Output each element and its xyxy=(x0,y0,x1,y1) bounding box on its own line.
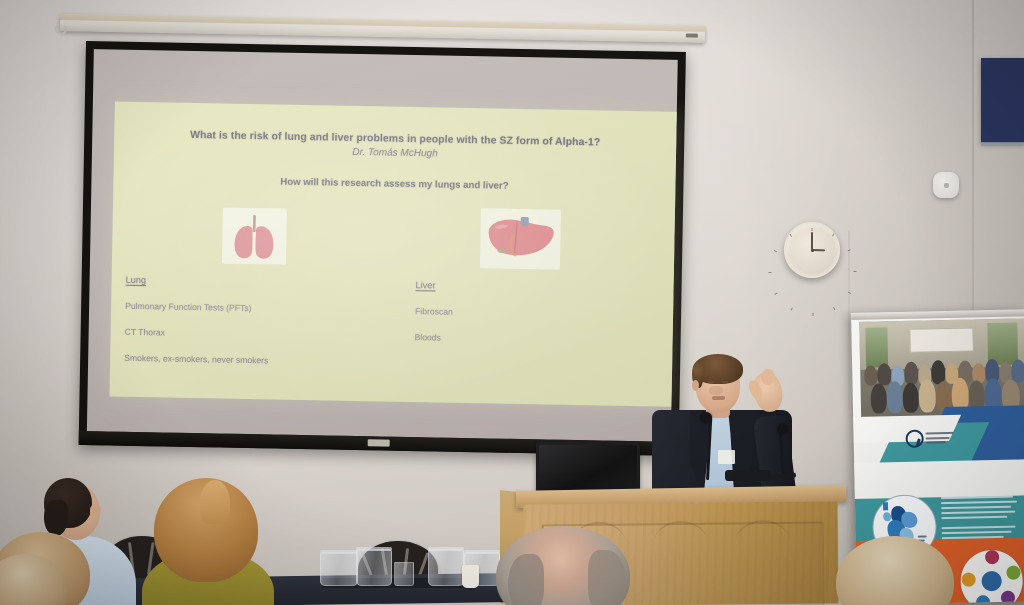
presenter-name-badge xyxy=(718,450,735,464)
water-jug xyxy=(356,549,392,586)
clock-face xyxy=(790,228,834,272)
audience-hair xyxy=(0,554,68,605)
projector-screen-frame: What is the risk of lung and liver probl… xyxy=(79,41,686,456)
jug-lid xyxy=(464,550,500,554)
microphone-base xyxy=(725,470,771,481)
diagram-node xyxy=(1006,566,1020,580)
projector-screen-surface: What is the risk of lung and liver probl… xyxy=(87,49,678,442)
photo-projector-screen xyxy=(909,327,973,352)
lecture-hall-photo: What is the risk of lung and liver probl… xyxy=(0,0,1024,605)
water-jug xyxy=(320,552,358,586)
audience-member-grey-center xyxy=(496,526,630,605)
column-heading-lung: Lung xyxy=(126,275,147,285)
wall-mounted-sensor xyxy=(933,172,959,198)
notice-board-lip xyxy=(981,142,1024,146)
jug-lid xyxy=(356,547,392,551)
photo-window xyxy=(865,327,888,367)
audience-member-blonde-right xyxy=(836,536,954,605)
audience-hair xyxy=(836,536,954,605)
organisation-logo xyxy=(905,427,967,448)
liver-item: Fibroscan xyxy=(415,306,453,317)
screen-pull-tab xyxy=(368,439,390,446)
lungs-illustration xyxy=(222,208,287,265)
audience-hair-side xyxy=(44,500,68,536)
sensor-indicator xyxy=(944,183,949,188)
logo-text-line xyxy=(926,441,946,443)
navy-notice-board xyxy=(981,58,1024,143)
liver-item: Bloods xyxy=(415,332,441,342)
clock-hour-hand xyxy=(812,249,825,251)
audience-member-blonde-corner xyxy=(0,554,68,605)
jug-lid xyxy=(320,550,358,554)
jug-lid xyxy=(428,547,464,551)
wall-clock xyxy=(784,222,840,278)
paper-cup xyxy=(462,565,479,588)
monitor-screen xyxy=(539,445,637,491)
lung-item: Pulmonary Function Tests (PFTs) xyxy=(125,301,252,313)
water-jug xyxy=(428,549,464,586)
roller-hook xyxy=(55,22,67,34)
logo-text-line xyxy=(926,432,954,435)
clock-minute-hand xyxy=(811,232,813,250)
lung-item: Smokers, ex-smokers, never smokers xyxy=(124,353,268,366)
clock-center-pin xyxy=(811,249,814,252)
audience-member-auburn-center xyxy=(142,478,270,605)
slide-question: How will this research assess my lungs a… xyxy=(113,174,675,195)
liver-illustration xyxy=(480,208,561,269)
drinking-glass xyxy=(394,562,414,586)
projected-slide: What is the risk of lung and liver probl… xyxy=(109,102,676,407)
presenter-ear xyxy=(692,380,699,391)
microphone-head-second xyxy=(777,424,788,434)
column-heading-liver: Liver xyxy=(415,280,435,290)
roller-knob xyxy=(686,33,698,37)
diagram-node xyxy=(961,572,975,586)
lung-item: CT Thorax xyxy=(125,327,165,338)
logo-text-line xyxy=(926,436,950,439)
diagram-center xyxy=(981,571,1001,591)
diagram-node xyxy=(985,550,999,564)
wall-seam xyxy=(848,230,850,410)
microphone-head xyxy=(700,412,712,423)
